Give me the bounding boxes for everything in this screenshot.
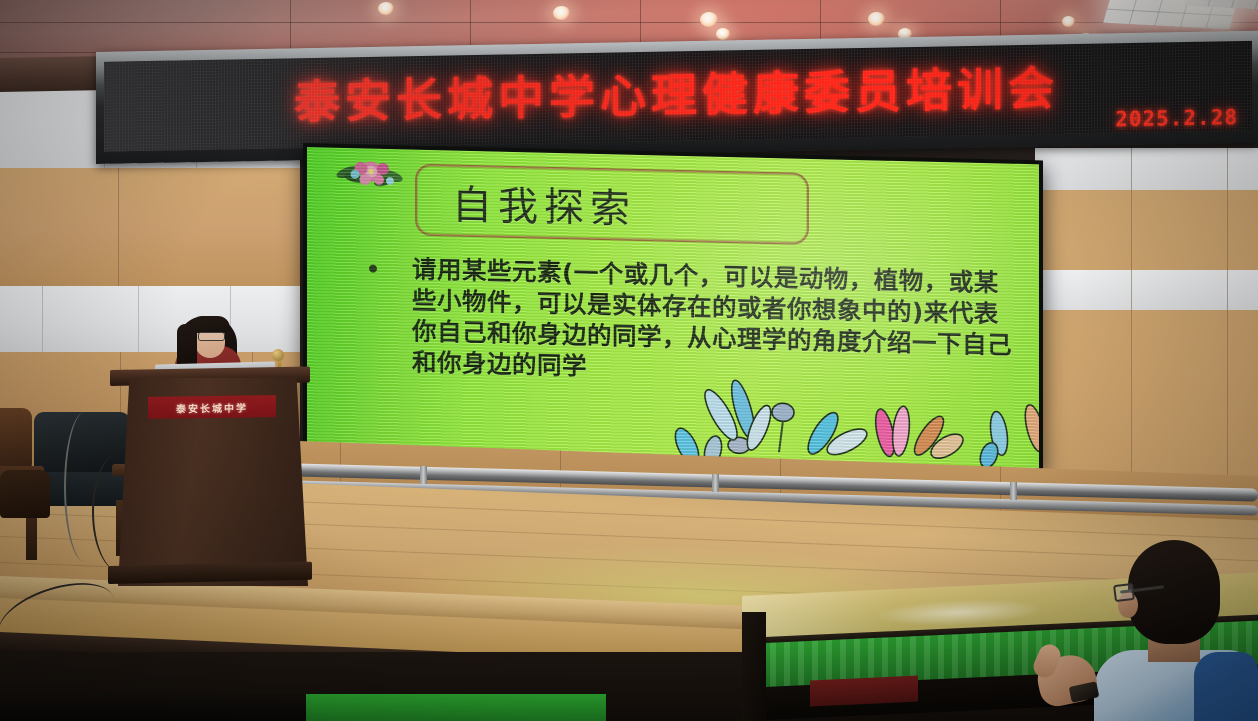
- wall-right: [1035, 148, 1258, 478]
- wall-panel-beige: [0, 168, 300, 286]
- slide-canvas: 自我探索 请用某些元素(一个或几个，可以是动物，植物，或某些小物件，可以是实体存…: [307, 147, 1039, 468]
- slide-title: 自我探索: [452, 173, 792, 239]
- wall-panel-white-band: [0, 286, 300, 352]
- projection-screen: 自我探索 请用某些元素(一个或几个，可以是动物，植物，或某些小物件，可以是实体存…: [303, 143, 1043, 472]
- attendee-head: [1128, 540, 1220, 644]
- railing-post: [420, 466, 427, 484]
- chair: [0, 470, 60, 590]
- railing-post: [1010, 482, 1017, 500]
- railing-post: [712, 474, 719, 492]
- spotlight-icon: [553, 6, 570, 20]
- led-banner-date: 2025.2.28: [1115, 105, 1238, 131]
- glasses-icon: [198, 332, 225, 341]
- spotlight-icon: [700, 12, 718, 27]
- led-banner-headline: 泰安长城中学心理健康委员培训会: [294, 52, 1059, 132]
- attendee-shirt-shadow: [1194, 652, 1258, 721]
- glasses-lens-icon: [1113, 583, 1135, 602]
- bullet-icon: [369, 265, 377, 273]
- bottom-shadow-left: [0, 694, 306, 721]
- bottom-green-reflection: [306, 694, 606, 721]
- leaf-icon: [647, 367, 1039, 468]
- foreground-desk-side: [742, 612, 766, 721]
- spotlight-icon: [378, 2, 394, 15]
- attendee: [1098, 534, 1258, 721]
- spotlight-icon: [1062, 16, 1075, 27]
- desk-name-card: [810, 676, 918, 707]
- flower-icon: [335, 156, 407, 196]
- led-banner: 泰安长城中学心理健康委员培训会 2025.2.28: [96, 31, 1258, 164]
- spotlight-icon: [716, 28, 730, 40]
- microphone-head-icon: [272, 349, 284, 361]
- podium-plaque-text: 泰安长城中学: [176, 399, 248, 415]
- podium-plaque: 泰安长城中学: [148, 395, 276, 419]
- led-banner-screen: 泰安长城中学心理健康委员培训会 2025.2.28: [104, 41, 1252, 152]
- spotlight-icon: [868, 12, 885, 26]
- conference-room-photo: 泰安长城中学心理健康委员培训会 2025.2.28: [0, 0, 1258, 721]
